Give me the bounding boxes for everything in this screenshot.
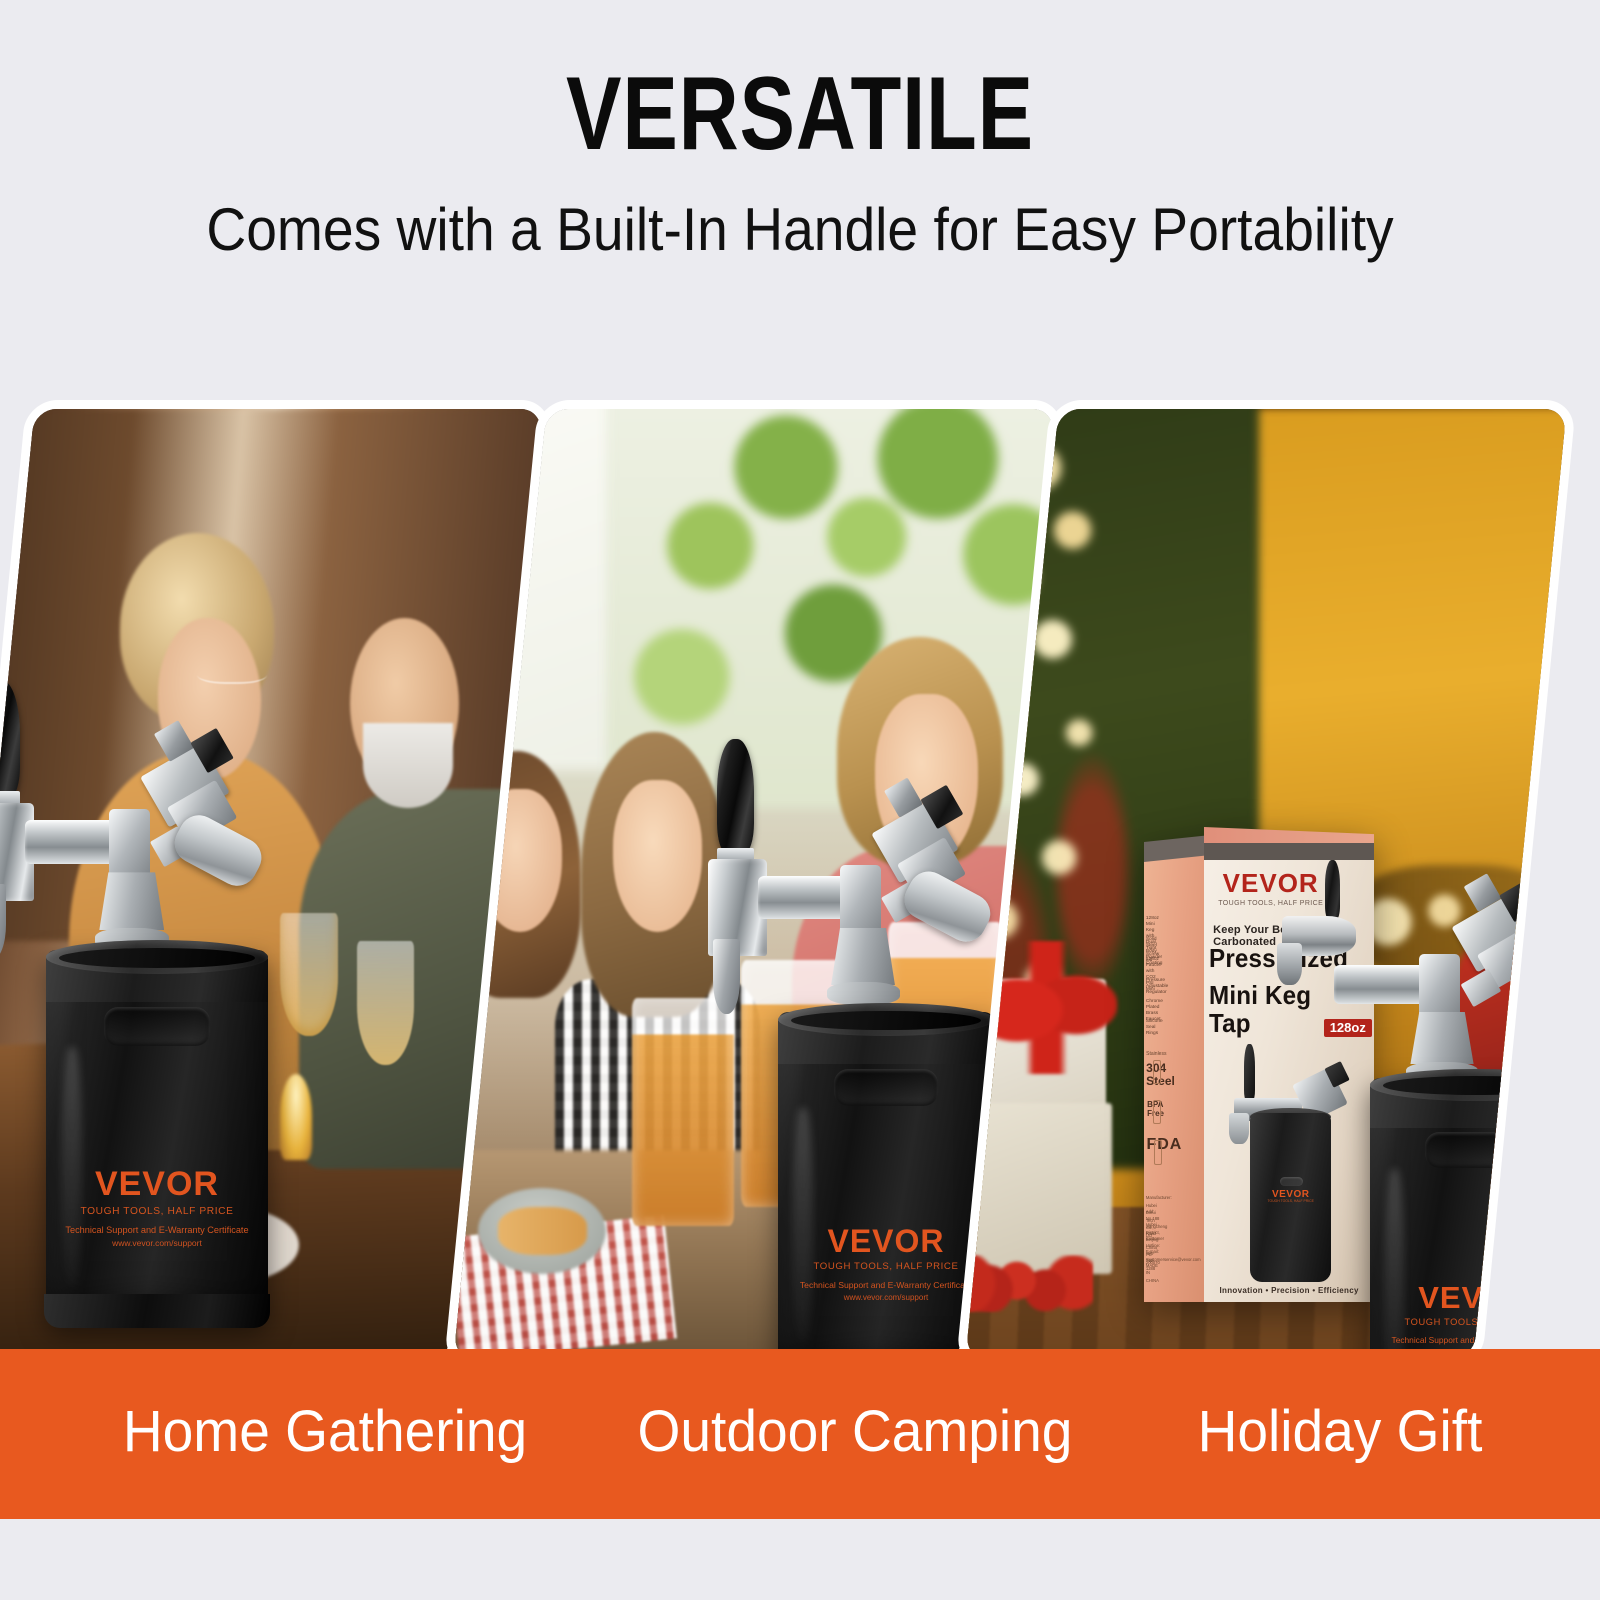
eyeglasses-icon — [197, 661, 267, 684]
keg-built-in-handle — [104, 1007, 211, 1045]
panel-holiday-gift-photo: 128oz Mini Keg with Dual Tight Screw Lid… — [965, 409, 1566, 1359]
box-spec-line: Silicone Seal Rings — [1146, 1019, 1160, 1037]
box-art-keg-handle — [1280, 1177, 1303, 1185]
certification-icon — [1154, 1140, 1162, 1164]
keg-support-url: www.vevor.com/support — [64, 1238, 250, 1250]
keg-tagline: TOUGH TOOLS, HALF PRICE — [795, 1260, 976, 1274]
wine-glass — [357, 941, 415, 1065]
keg-tagline: TOUGH TOOLS, HALF PRICE — [64, 1204, 250, 1219]
beer-mug — [632, 998, 734, 1226]
keg-brand: VEVOR — [64, 1167, 250, 1203]
keg-brand: VEVOR — [1387, 1282, 1563, 1315]
panel-outdoor-camping-photo: VEVOR TOUGH TOOLS, HALF PRICE Technical … — [453, 409, 1054, 1359]
box-art-tap-spout — [1277, 943, 1303, 986]
mini-keg-product: VEVOR TOUGH TOOLS, HALF PRICE Technical … — [46, 844, 268, 1324]
use-case-label-row: Home Gathering Outdoor Camping Holiday G… — [0, 1349, 1600, 1519]
panel-home-gathering[interactable]: VEVOR TOUGH TOOLS, HALF PRICE Technical … — [0, 409, 543, 1359]
fries — [498, 1207, 588, 1255]
keg-top-opening — [59, 948, 254, 968]
keg-built-in-handle — [1425, 1132, 1526, 1168]
tap-spout — [0, 884, 6, 959]
tap-lever-handle — [717, 739, 753, 853]
keg-built-in-handle — [834, 1069, 938, 1107]
keg-brand: VEVOR — [795, 1225, 976, 1259]
keg-top-opening — [1383, 1076, 1567, 1095]
tap-lever-handle — [0, 681, 20, 797]
wine-glass — [280, 913, 338, 1037]
keg-support-text: Technical Support and E-Warranty Certifi… — [1387, 1334, 1563, 1347]
mini-keg-product: VEVOR TOUGH TOOLS, HALF PRICE Technical … — [778, 909, 994, 1359]
use-case-banner: Home Gathering Outdoor Camping Holiday G… — [0, 1349, 1600, 1519]
keg-body: VEVOR TOUGH TOOLS, HALF PRICE Technical … — [778, 1012, 994, 1359]
gift-box — [971, 1103, 1112, 1274]
page-title: VERSATILE — [160, 62, 1440, 166]
keg-support-url: www.vevor.com/support — [795, 1292, 976, 1303]
recycle-icon — [1153, 1060, 1161, 1084]
steel-caption: Stainless — [1146, 1051, 1160, 1057]
header: VERSATILE Comes with a Built-In Handle f… — [0, 0, 1600, 409]
use-case-label-holiday-gift: Holiday Gift — [1131, 1399, 1549, 1465]
keg-label: VEVOR TOUGH TOOLS, HALF PRICE Technical … — [1387, 1282, 1563, 1358]
keg-tagline: TOUGH TOOLS, HALF PRICE — [1387, 1316, 1563, 1330]
woman-b-face — [613, 780, 703, 932]
box-spec-line: Pressure Adjustable Regulator — [1146, 978, 1160, 996]
candle — [280, 1074, 312, 1160]
box-art-keg-tap-spout — [1229, 1113, 1248, 1144]
keg-support-text: Technical Support and E-Warranty Certifi… — [795, 1279, 976, 1292]
keg-label: VEVOR TOUGH TOOLS, HALF PRICE Technical … — [795, 1225, 976, 1303]
lifestyle-panel-strip: VEVOR TOUGH TOOLS, HALF PRICE Technical … — [0, 409, 1600, 1359]
keg-support-text: Technical Support and E-Warranty Certifi… — [64, 1224, 250, 1238]
mini-keg-product: VEVOR TOUGH TOOLS, HALF PRICE Technical … — [1370, 979, 1567, 1359]
tap-spout — [713, 939, 740, 1013]
box-footer-slogan: Innovation • Precision • Efficiency — [1209, 1286, 1370, 1295]
red-bead-garland — [965, 1255, 1092, 1312]
panel-holiday-gift[interactable]: 128oz Mini Keg with Dual Tight Screw Lid… — [965, 409, 1566, 1359]
box-art-keg-tagline: TOUGH TOOLS, HALF PRICE — [1250, 1199, 1331, 1204]
box-side-panel: 128oz Mini Keg with Dual Tight Screw Lid… — [1144, 853, 1206, 1302]
page-subtitle: Comes with a Built-In Handle for Easy Po… — [64, 196, 1536, 264]
panel-home-gathering-photo: VEVOR TOUGH TOOLS, HALF PRICE Technical … — [0, 409, 543, 1359]
use-case-label-outdoor-camping: Outdoor Camping — [603, 1399, 1107, 1465]
use-case-label-home-gathering: Home Gathering — [73, 1399, 577, 1465]
keg-label: VEVOR TOUGH TOOLS, HALF PRICE Technical … — [64, 1167, 250, 1250]
heat-resistant-icon — [1153, 1100, 1161, 1124]
elderly-man-beard — [363, 723, 453, 809]
panel-outdoor-camping[interactable]: VEVOR TOUGH TOOLS, HALF PRICE Technical … — [453, 409, 1054, 1359]
keg-top-opening — [791, 1011, 981, 1031]
box-art-keg-tap-handle — [1244, 1044, 1255, 1100]
keg-base — [44, 1294, 270, 1328]
keg-body: VEVOR TOUGH TOOLS, HALF PRICE Technical … — [46, 950, 268, 1324]
manufacturer-address: MADE IN CHINA — [1146, 1262, 1160, 1285]
